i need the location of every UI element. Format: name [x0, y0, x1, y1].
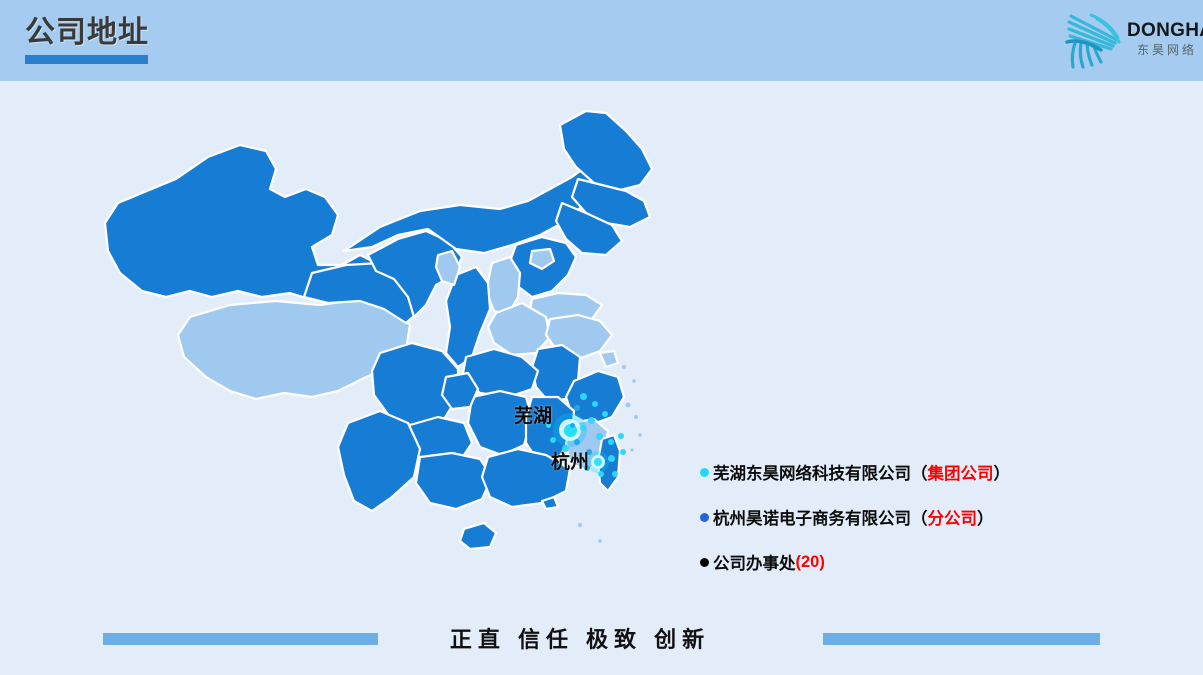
logo-text: DONGHAO 东昊网络 [1127, 20, 1203, 58]
footer-slogan: 正直 信任 极致 创新 [440, 622, 720, 654]
legend-label: 公司办事处 [713, 550, 796, 574]
province-guangxi [416, 453, 492, 509]
legend-close-paren: ） [994, 460, 1011, 484]
legend-close-paren: ） [977, 505, 994, 529]
legend-bullet-icon [700, 513, 709, 522]
legend-open-paren: （ [911, 460, 928, 484]
legend-item-branch-company[interactable]: 杭州昊诺电子商务有限公司 （ 分公司 ） [700, 505, 1120, 529]
legend-label: 芜湖东昊网络科技有限公司 [713, 460, 911, 484]
province-taiwan [598, 435, 620, 491]
legend-tag: (20) [796, 553, 825, 572]
logo-english-name: DONGHAO [1127, 20, 1203, 41]
feather-logo-icon [1061, 10, 1127, 70]
legend-open-paren: （ [911, 505, 928, 529]
province-shanghai [600, 351, 618, 367]
province-hainan [460, 523, 496, 549]
brand-logo: DONGHAO 东昊网络 [1023, 8, 1193, 72]
legend-tag: 分公司 [928, 505, 978, 529]
china-map[interactable]: 芜湖 杭州 [80, 105, 700, 615]
page-header: 公司地址 DONGHAO 东昊网络 [0, 0, 1203, 81]
title-wrap: 公司地址 [25, 14, 149, 64]
page-title: 公司地址 [25, 14, 149, 52]
legend-tag: 集团公司 [928, 460, 994, 484]
province-chongqing [442, 373, 478, 409]
province-hunan [468, 391, 532, 455]
legend-bullet-icon [700, 468, 709, 477]
logo-chinese-name: 东昊网络 [1137, 42, 1203, 58]
title-underline [25, 55, 148, 64]
legend-item-offices[interactable]: 公司办事处 (20) [700, 550, 1120, 574]
legend-label: 杭州昊诺电子商务有限公司 [713, 505, 911, 529]
province-yunnan [338, 411, 420, 511]
legend-bullet-icon [700, 558, 709, 567]
legend: 芜湖东昊网络科技有限公司 （ 集团公司 ） 杭州昊诺电子商务有限公司 （ 分公司… [700, 460, 1120, 595]
footer-bar-right [823, 633, 1100, 645]
legend-item-group-company[interactable]: 芜湖东昊网络科技有限公司 （ 集团公司 ） [700, 460, 1120, 484]
footer-bar-left [103, 633, 378, 645]
china-map-svg [80, 105, 700, 615]
